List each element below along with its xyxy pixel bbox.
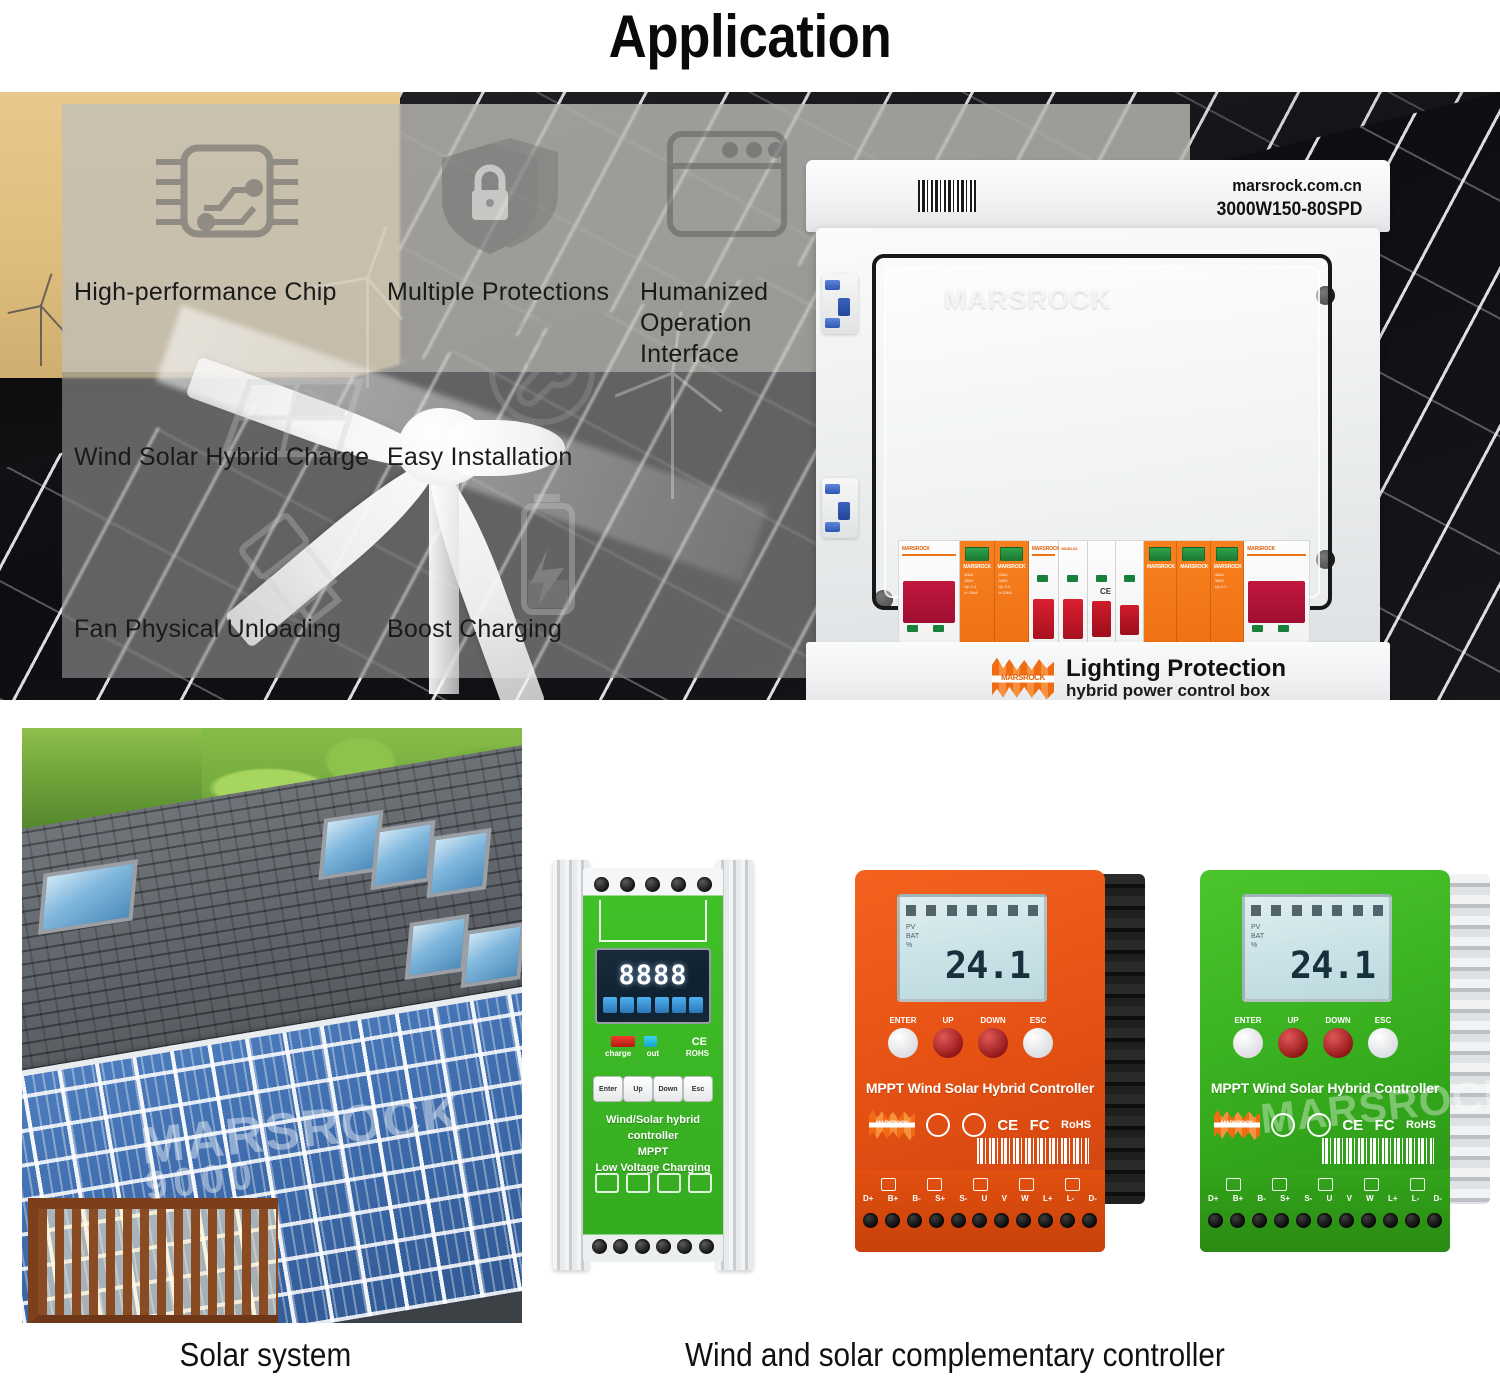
down-button[interactable] [978, 1028, 1008, 1058]
control-box-label-sub: hybrid power control box [1066, 681, 1286, 700]
terminal-labels: D+ B+ B- S+ S- U V W L+ L- D- [1208, 1194, 1442, 1206]
feature-label-fan-unloading: Fan Physical Unloading [74, 614, 341, 645]
charge-led-label: charge [605, 1049, 631, 1058]
certification-row: MARSROCK CE FC RoHS [1214, 1108, 1436, 1142]
skylight-icon [370, 820, 435, 890]
application-banner: High-performance Chip Multiple Protectio… [0, 92, 1500, 700]
lcd-status-icons [906, 902, 1038, 918]
bottom-terminals [589, 1236, 717, 1256]
lcd-side-readout: PVBAT% [1251, 923, 1264, 950]
hybrid-power-control-box: marsrock.com.cn 3000W150-80SPD MARSROCK [798, 160, 1398, 700]
lcd-display: PVBAT% 24.1 [897, 894, 1047, 1002]
button-row: ENTER UP DOWN ESC [883, 1016, 1078, 1060]
hinge-icon [822, 478, 858, 538]
lcd-digits: 8888 [618, 960, 687, 991]
battery-icon [626, 1173, 650, 1193]
page-title: Application [90, 2, 1410, 71]
enter-button[interactable] [888, 1028, 918, 1058]
lcd-display: PVBAT% 24.1 [1242, 894, 1392, 1002]
waste-bin-icon [1307, 1113, 1331, 1137]
control-box-model: 3000W150-80SPD [1216, 199, 1362, 221]
marsrock-logo-icon: MARSROCK [992, 658, 1054, 700]
controller-faceplate: PVBAT% 24.1 ENTER UP DOWN ESC MPPT Wind … [855, 870, 1105, 1252]
up-button[interactable] [933, 1028, 963, 1058]
top-terminals [589, 874, 717, 894]
controller-faceplate: PVBAT% 24.1 ENTER UP DOWN ESC MPPT Wind … [1200, 870, 1450, 1252]
orange-mppt-controller: PVBAT% 24.1 ENTER UP DOWN ESC MPPT Wind … [855, 870, 1145, 1260]
lamp-icon [1410, 1178, 1425, 1191]
solar-system-photo: MARSROCK 9000 [22, 728, 522, 1323]
control-box-url: marsrock.com.cn [1232, 176, 1362, 196]
waste-bin-icon [962, 1113, 986, 1137]
control-box-top-cover: marsrock.com.cn 3000W150-80SPD [806, 160, 1390, 232]
terminal-icons-row [591, 1168, 715, 1198]
ce-mark: CE [997, 1117, 1018, 1134]
esc-button-label: ESC [1018, 1016, 1058, 1025]
caption-solar-system: Solar system [180, 1336, 352, 1374]
feature-label-protections: Multiple Protections [387, 277, 609, 308]
solar-icon [973, 1178, 988, 1191]
terminal-holes[interactable] [1208, 1208, 1442, 1232]
feature-label-boost-charging: Boost Charging [387, 614, 562, 645]
enter-button[interactable] [1233, 1028, 1263, 1058]
barcode-icon [977, 1138, 1089, 1164]
marsrock-logo-icon: MARSROCK [1214, 1110, 1260, 1140]
up-button-label: UP [928, 1016, 968, 1025]
skylight-icon [426, 828, 491, 898]
solar-icon [595, 1173, 619, 1193]
out-led-label: out [647, 1049, 659, 1058]
barcode-icon [918, 180, 976, 212]
lamp-icon [1065, 1178, 1080, 1191]
control-box-label-main: Lighting Protection [1066, 656, 1286, 681]
feature-label-hybrid-charge: Wind Solar Hybrid Charge [74, 442, 369, 473]
esc-button[interactable]: Esc [683, 1076, 713, 1102]
controller-title: MPPT Wind Solar Hybrid Controller [1200, 1080, 1450, 1096]
controller-faceplate: 8888 charge out CE ROHS Enter Up Down Es… [583, 868, 723, 1262]
battery-icon [1272, 1178, 1287, 1191]
skylight-icon [405, 914, 470, 980]
feature-label-easy-installation: Easy Installation [387, 442, 572, 473]
wooden-balcony [28, 1198, 278, 1323]
enter-button-label: ENTER [1228, 1016, 1268, 1025]
load-icon [688, 1173, 712, 1193]
ce-mark: CE [692, 1036, 707, 1048]
terminal-block: D+ B+ B- S+ S- U V W L+ L- D- [1200, 1170, 1450, 1252]
down-button[interactable]: Down [653, 1076, 683, 1102]
charge-led-icon [611, 1036, 635, 1047]
lcd-status-icons [601, 992, 705, 1018]
terminal-icons [865, 1174, 1095, 1194]
lcd-side-readout: PVBAT% [906, 923, 919, 950]
dump-load-icon [1226, 1178, 1241, 1191]
turbine-icon [1019, 1178, 1034, 1191]
down-button[interactable] [1323, 1028, 1353, 1058]
button-row: ENTER UP DOWN ESC [1228, 1016, 1423, 1060]
lcd-display: 8888 [595, 948, 711, 1024]
dump-load-icon [881, 1178, 896, 1191]
caption-controller: Wind and solar complementary controller [685, 1336, 1225, 1374]
terminal-block: D+ B+ B- S+ S- U V W L+ L- D- [855, 1170, 1105, 1252]
feature-label-chip: High-performance Chip [74, 277, 337, 308]
hinge-icon [822, 274, 858, 334]
controller-title-line1: Wind/Solar hybrid controller [583, 1112, 723, 1144]
terminal-labels: D+ B+ B- S+ S- U V W L+ L- D- [863, 1194, 1097, 1206]
skylight-icon [461, 922, 522, 988]
terminal-icons [1210, 1174, 1440, 1194]
barcode-icon [1322, 1138, 1434, 1164]
up-button-label: UP [1273, 1016, 1313, 1025]
rohs-mark: RoHS [1061, 1119, 1091, 1131]
controller-title-line2: MPPT [583, 1144, 723, 1160]
feature-label-interface: Humanized Operation Interface [640, 277, 768, 370]
rohs-mark: ROHS [686, 1049, 709, 1058]
rohs-mark: RoHS [1406, 1119, 1436, 1131]
chip-icon [142, 130, 312, 285]
recycle-icon [926, 1113, 950, 1137]
battery-bolt-icon [502, 484, 612, 629]
shield-lock-icon [432, 130, 572, 265]
button-row: Enter Up Down Esc [593, 1076, 713, 1104]
marsrock-logo-icon: MARSROCK [869, 1110, 915, 1140]
down-button-label: DOWN [973, 1016, 1013, 1025]
window-interface-icon [662, 126, 792, 251]
enter-button[interactable]: Enter [593, 1076, 623, 1102]
led-row: charge out CE ROHS [597, 1036, 709, 1064]
out-led-icon [644, 1036, 657, 1047]
wrench-circle-icon [482, 312, 602, 437]
control-box-label: MARSROCK Lighting Protection hybrid powe… [992, 656, 1286, 700]
controller-title: MPPT Wind Solar Hybrid Controller [855, 1080, 1105, 1096]
wind-turbine-diagram-icon [599, 900, 707, 942]
control-box-body: MARSROCK MARSROCK 40kA385VUp 2.0In 20kA … [816, 228, 1380, 648]
down-button-label: DOWN [1318, 1016, 1358, 1025]
lcd-status-icons [1251, 902, 1383, 918]
fc-mark: FC [1030, 1117, 1050, 1134]
green-big-mppt-controller: PVBAT% 24.1 ENTER UP DOWN ESC MPPT Wind … [1200, 870, 1490, 1260]
enter-button-label: ENTER [883, 1016, 923, 1025]
green-mppt-controller: 8888 charge out CE ROHS Enter Up Down Es… [553, 860, 753, 1270]
esc-button[interactable] [1023, 1028, 1053, 1058]
controllers-group: 8888 charge out CE ROHS Enter Up Down Es… [545, 850, 1485, 1320]
control-box-bottom-cover: MARSROCK Lighting Protection hybrid powe… [806, 642, 1390, 700]
turbine-icon [1364, 1178, 1379, 1191]
lcd-digits: 24.1 [1290, 944, 1375, 987]
ce-mark: CE [1342, 1117, 1363, 1134]
certification-row: MARSROCK CE FC RoHS [869, 1108, 1091, 1142]
fc-mark: FC [1375, 1117, 1395, 1134]
battery-icon [927, 1178, 942, 1191]
solar-icon [1318, 1178, 1333, 1191]
esc-button-label: ESC [1363, 1016, 1403, 1025]
lcd-digits: 24.1 [945, 944, 1030, 987]
turbine-icon [657, 1173, 681, 1193]
esc-button[interactable] [1368, 1028, 1398, 1058]
recycle-icon [1271, 1113, 1295, 1137]
terminal-holes[interactable] [863, 1208, 1097, 1232]
up-button[interactable] [1278, 1028, 1308, 1058]
controller-text-block: Wind/Solar hybrid controller MPPT Low Vo… [583, 1112, 723, 1176]
up-button[interactable]: Up [623, 1076, 653, 1102]
